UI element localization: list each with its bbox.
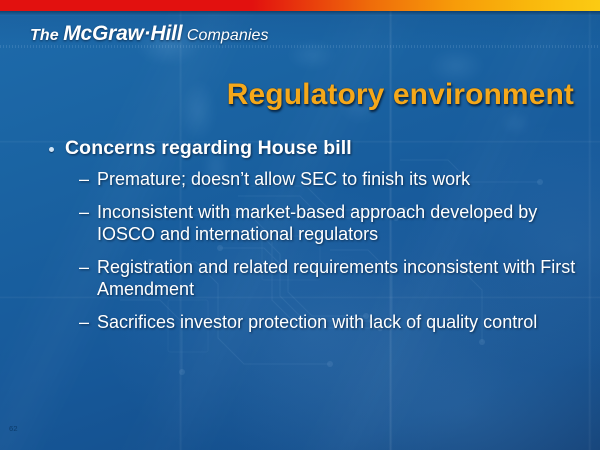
logo-prefix: The	[30, 27, 59, 44]
dash-marker-icon: –	[79, 257, 89, 279]
presentation-slide: The McGraw·Hill Companies Regulatory env…	[0, 0, 600, 450]
bullet-level1: Concerns regarding House bill	[0, 137, 600, 160]
page-number: 62	[9, 424, 18, 433]
bullet-dot-icon	[49, 147, 54, 152]
logo-suffix: Companies	[187, 27, 269, 44]
bullet-level2-text: Premature; doesn’t allow SEC to finish i…	[97, 169, 470, 191]
bullet-level1-text: Concerns regarding House bill	[65, 137, 352, 160]
brand-accent-bar	[0, 0, 600, 11]
bullet-level2: – Sacrifices investor protection with la…	[0, 312, 600, 334]
dash-marker-icon: –	[79, 312, 89, 334]
bullet-level2: – Inconsistent with market-based approac…	[0, 202, 600, 246]
bullet-level2: – Registration and related requirements …	[0, 257, 600, 301]
bullet-level2-text: Registration and related requirements in…	[97, 257, 582, 301]
bullet-level2: – Premature; doesn’t allow SEC to finish…	[0, 169, 600, 191]
slide-body: Concerns regarding House bill – Prematur…	[0, 137, 600, 345]
dash-marker-icon: –	[79, 169, 89, 191]
bullet-level2-text: Inconsistent with market-based approach …	[97, 202, 582, 246]
mcgraw-hill-logo: The McGraw·Hill Companies	[30, 22, 269, 46]
slide-title: Regulatory environment	[0, 78, 574, 112]
dash-marker-icon: –	[79, 202, 89, 224]
logo-name: McGraw·Hill	[63, 22, 182, 45]
bullet-level2-text: Sacrifices investor protection with lack…	[97, 312, 537, 334]
